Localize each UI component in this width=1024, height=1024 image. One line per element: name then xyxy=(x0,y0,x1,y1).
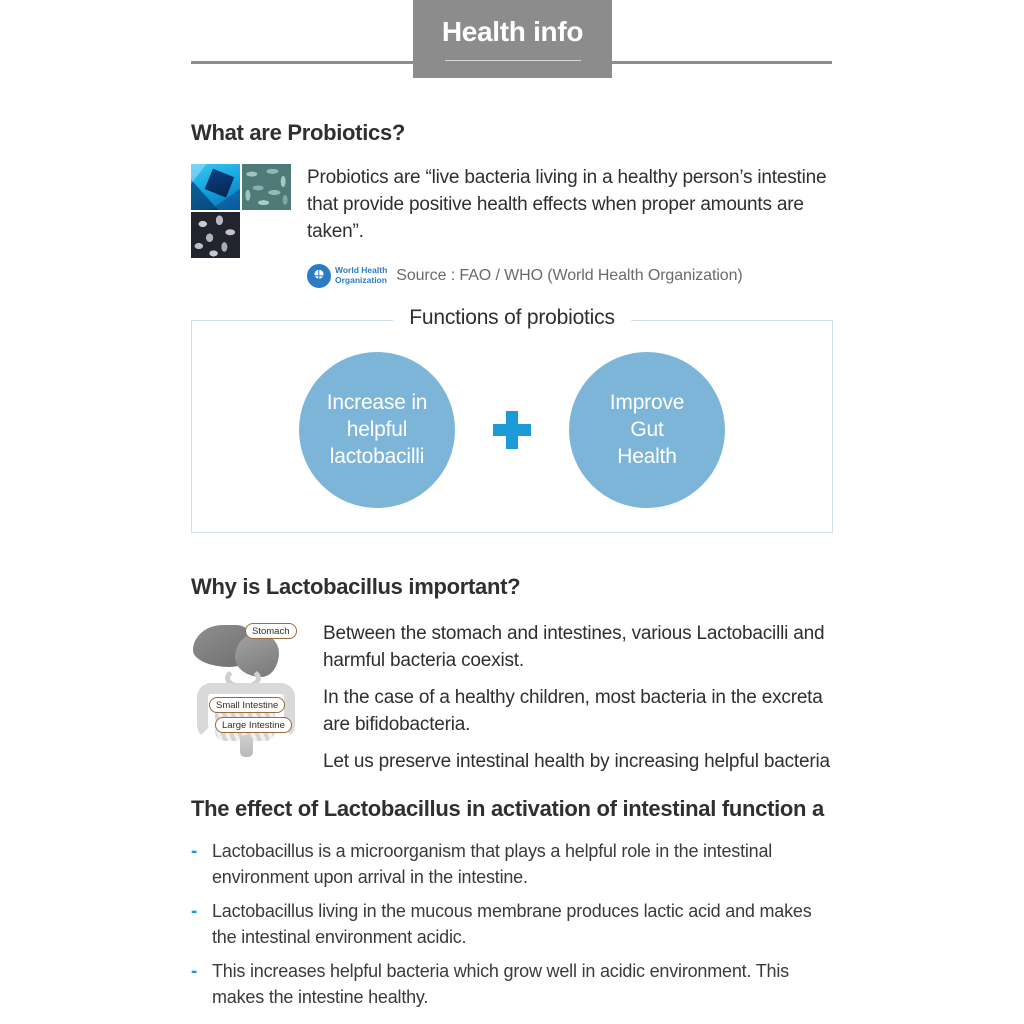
infographic-page: Health info What are Probiotics? Probiot… xyxy=(0,0,1024,1024)
organ-label-stomach: Stomach xyxy=(245,623,297,639)
function-circle-improve-gut-health: Improve Gut Health xyxy=(569,352,725,508)
digestive-system-illustration: Stomach Small Intestine Large Intestine xyxy=(191,619,305,759)
list-item-text: This increases helpful bacteria which gr… xyxy=(212,959,833,1010)
who-emblem-icon xyxy=(307,264,331,288)
section-heading-effect: The effect of Lactobacillus in activatio… xyxy=(191,794,833,823)
section-heading-why: Why is Lactobacillus important? xyxy=(191,572,833,601)
crystal-bacteria-micrograph-image xyxy=(191,164,240,210)
why-paragraph: Let us preserve intestinal health by inc… xyxy=(323,749,833,776)
list-item-text: Lactobacillus is a microorganism that pl… xyxy=(212,839,833,890)
bullet-dash-icon: - xyxy=(191,959,203,1010)
why-paragraph: In the case of a healthy children, most … xyxy=(323,685,833,739)
header-tab: Health info xyxy=(413,0,612,78)
rod-bacteria-micrograph-image xyxy=(242,164,291,210)
rectum-shape xyxy=(240,735,253,757)
header-title-underline xyxy=(445,60,581,61)
list-item: - Lactobacillus is a microorganism that … xyxy=(191,839,833,890)
section-effect-of-lactobacillus: The effect of Lactobacillus in activatio… xyxy=(191,794,833,1019)
section-why-lactobacillus-important: Why is Lactobacillus important? Stomach … xyxy=(191,572,833,776)
function-circle-increase-lactobacilli: Increase in helpful lactobacilli xyxy=(299,352,455,508)
probiotics-definition-quote: Probiotics are “live bacteria living in … xyxy=(307,165,833,246)
probiotics-content-row: Probiotics are “live bacteria living in … xyxy=(191,164,833,288)
cocci-bacteria-micrograph-image xyxy=(191,212,240,258)
bullet-dash-icon: - xyxy=(191,839,203,890)
plus-icon xyxy=(493,411,531,449)
bacteria-thumbnail-grid xyxy=(191,164,292,288)
why-content-row: Stomach Small Intestine Large Intestine … xyxy=(191,619,833,776)
organ-label-large-intestine: Large Intestine xyxy=(215,717,292,733)
list-item: - This increases helpful bacteria which … xyxy=(191,959,833,1010)
source-attribution-row: World Health Organization Source : FAO /… xyxy=(307,264,833,288)
section-what-are-probiotics: What are Probiotics? Probiotics are “liv… xyxy=(191,118,833,288)
list-item: - Lactobacillus living in the mucous mem… xyxy=(191,899,833,950)
who-logo: World Health Organization xyxy=(307,264,387,288)
page-title: Health info xyxy=(442,16,583,48)
section-heading-probiotics: What are Probiotics? xyxy=(191,118,833,147)
effect-bullet-list: - Lactobacillus is a microorganism that … xyxy=(191,839,833,1010)
functions-of-probiotics-box: Functions of probiotics Increase in help… xyxy=(191,320,833,533)
list-item-text: Lactobacillus living in the mucous membr… xyxy=(212,899,833,950)
page-header: Health info xyxy=(0,0,1024,90)
probiotics-text-block: Probiotics are “live bacteria living in … xyxy=(307,164,833,288)
source-citation-text: Source : FAO / WHO (World Health Organiz… xyxy=(396,267,742,285)
organ-label-small-intestine: Small Intestine xyxy=(209,697,285,713)
why-text-block: Between the stomach and intestines, vari… xyxy=(323,619,833,776)
why-paragraph: Between the stomach and intestines, vari… xyxy=(323,621,833,675)
functions-diagram: Increase in helpful lactobacilli Improve… xyxy=(192,321,832,532)
bullet-dash-icon: - xyxy=(191,899,203,950)
who-wordmark-label: World Health Organization xyxy=(335,266,387,285)
